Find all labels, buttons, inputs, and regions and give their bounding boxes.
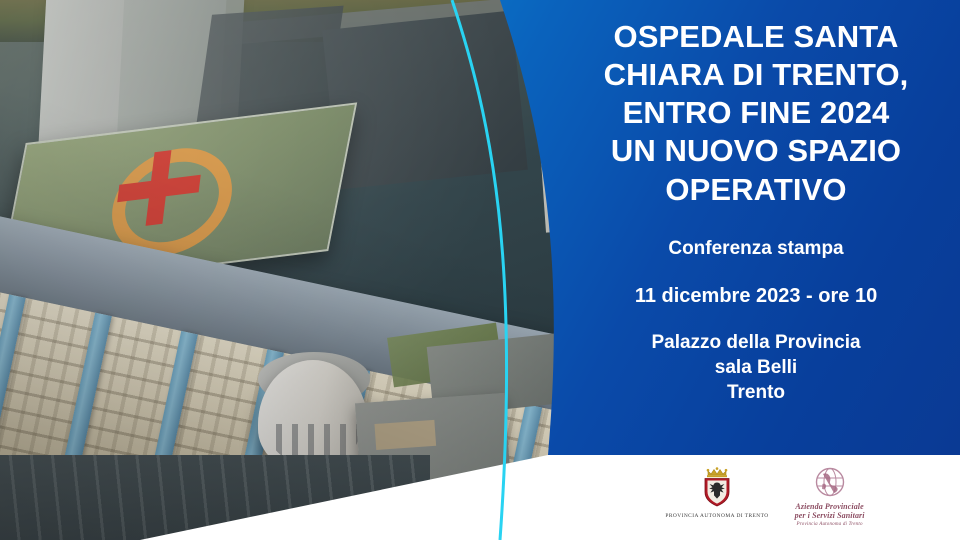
event-type-label: Conferenza stampa [556, 238, 956, 260]
logo-apss-line1: Azienda Provinciale [795, 502, 863, 511]
apss-globe-icon [813, 466, 847, 502]
logo-provincia-autonoma-di-trento: PROVINCIA AUTONOMA DI TRENTO [665, 466, 768, 519]
venue-line: Palazzo della Provincia [556, 330, 956, 355]
logo-apss: Azienda Provinciale per i Servizi Sanita… [795, 466, 865, 527]
event-venue: Palazzo della Provincia sala Belli Trent… [556, 330, 956, 405]
page-title: OSPEDALE SANTA CHIARA DI TRENTO, ENTRO F… [556, 18, 956, 209]
title-line: OSPEDALE SANTA [556, 18, 956, 56]
trento-crest-icon [697, 466, 737, 510]
event-datetime-label: 11 dicembre 2023 - ore 10 [556, 285, 956, 308]
title-line: ENTRO FINE 2024 [556, 94, 956, 132]
logo-bar: PROVINCIA AUTONOMA DI TRENTO Azienda Pro… [640, 466, 890, 532]
venue-line: sala Belli [556, 355, 956, 380]
title-line: OPERATIVO [556, 171, 956, 209]
logo-provincia-caption: PROVINCIA AUTONOMA DI TRENTO [665, 513, 768, 519]
logo-apss-line3: Provincia Autonoma di Trento [797, 522, 863, 527]
title-line: CHIARA DI TRENTO, [556, 56, 956, 94]
logo-apss-line2: per i Servizi Sanitari [795, 511, 865, 520]
title-line: UN NUOVO SPAZIO [556, 132, 956, 170]
venue-line: Trento [556, 380, 956, 405]
presentation-slide: ©UniTrento ph. Federico Nardelli OSPEDAL… [0, 0, 960, 540]
